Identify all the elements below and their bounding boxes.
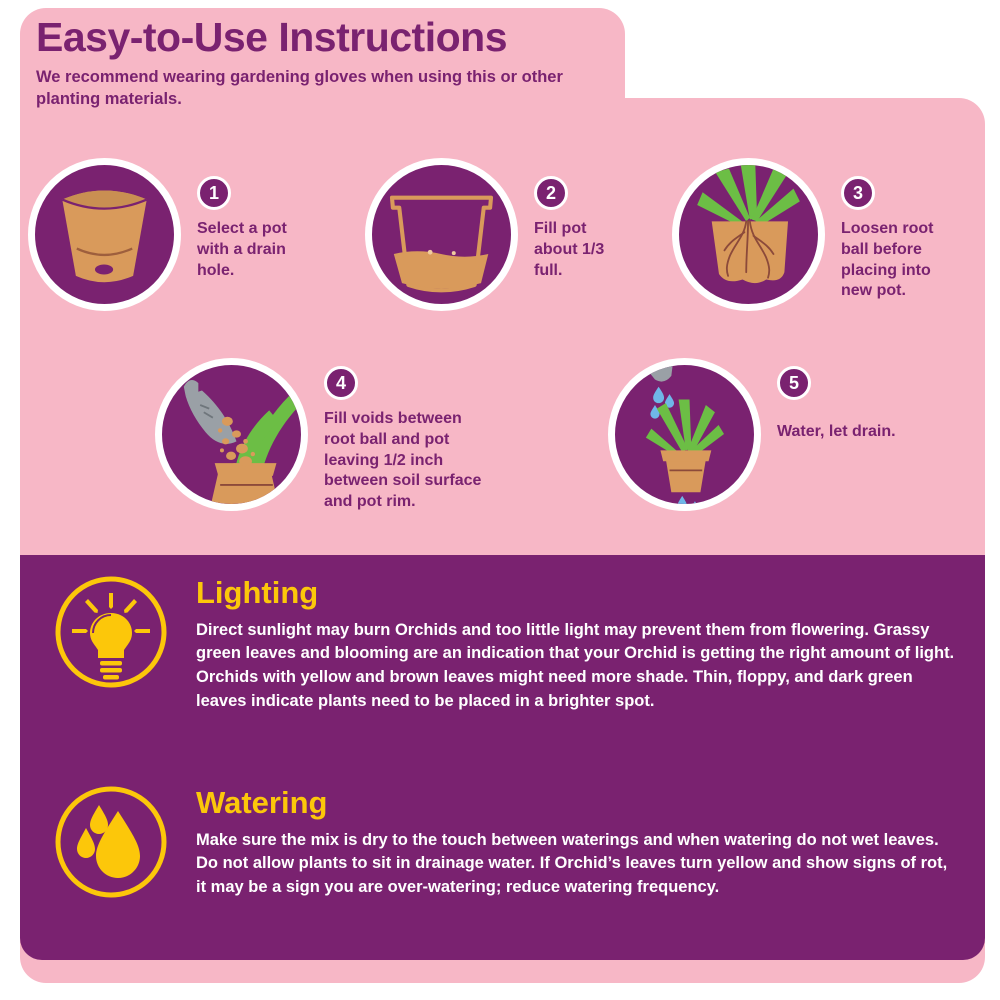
step-3-text: 3 Loosen root ball before placing into n…	[841, 158, 951, 302]
care-lighting-text: Direct sunlight may burn Orchids and too…	[196, 619, 956, 715]
step-3-number-badge: 3	[841, 176, 875, 210]
step-1: 1 Select a pot with a drain hole.	[28, 158, 307, 311]
step-1-text: 1 Select a pot with a drain hole.	[197, 158, 307, 281]
step-4-text: 4 Fill voids between root ball and pot l…	[324, 358, 509, 513]
step-1-illustration-pot-with-drain-hole	[28, 158, 181, 311]
water-drops-icon	[52, 783, 170, 901]
page-title: Easy-to-Use Instructions	[36, 16, 636, 59]
step-5: 5 Water, let drain.	[608, 358, 967, 511]
step-4-number-badge: 4	[324, 366, 358, 400]
care-watering-title: Watering	[196, 787, 956, 820]
step-4: 4 Fill voids between root ball and pot l…	[155, 358, 509, 513]
step-5-illustration-watering-potted-plant	[608, 358, 761, 511]
lightbulb-icon	[52, 573, 170, 691]
care-section-watering: Watering Make sure the mix is dry to the…	[52, 783, 967, 901]
step-5-caption: Water, let drain.	[777, 422, 967, 443]
step-3-caption: Loosen root ball before placing into new…	[841, 219, 951, 302]
step-5-number-badge: 5	[777, 366, 811, 400]
step-5-text: 5 Water, let drain.	[777, 358, 967, 443]
step-3-illustration-plant-root-ball	[672, 158, 825, 311]
step-2: 2 Fill pot about 1/3 full.	[365, 158, 634, 311]
care-lighting-body: Lighting Direct sunlight may burn Orchid…	[196, 573, 956, 714]
care-section-lighting: Lighting Direct sunlight may burn Orchid…	[52, 573, 967, 714]
step-1-caption: Select a pot with a drain hole.	[197, 219, 307, 281]
step-4-caption: Fill voids between root ball and pot lea…	[324, 409, 509, 513]
care-watering-body: Watering Make sure the mix is dry to the…	[196, 783, 956, 900]
page-subtitle: We recommend wearing gardening gloves wh…	[36, 67, 581, 111]
step-2-caption: Fill pot about 1/3 full.	[534, 219, 634, 281]
care-lighting-title: Lighting	[196, 577, 956, 610]
step-4-illustration-trowel-pouring-soil	[155, 358, 308, 511]
step-2-text: 2 Fill pot about 1/3 full.	[534, 158, 634, 281]
care-watering-text: Make sure the mix is dry to the touch be…	[196, 829, 956, 901]
step-3: 3 Loosen root ball before placing into n…	[672, 158, 951, 311]
title-block: Easy-to-Use Instructions We recommend we…	[36, 16, 636, 111]
care-instructions-panel: Lighting Direct sunlight may burn Orchid…	[20, 555, 985, 960]
step-2-number-badge: 2	[534, 176, 568, 210]
step-1-number-badge: 1	[197, 176, 231, 210]
step-2-illustration-pot-one-third-filled	[365, 158, 518, 311]
